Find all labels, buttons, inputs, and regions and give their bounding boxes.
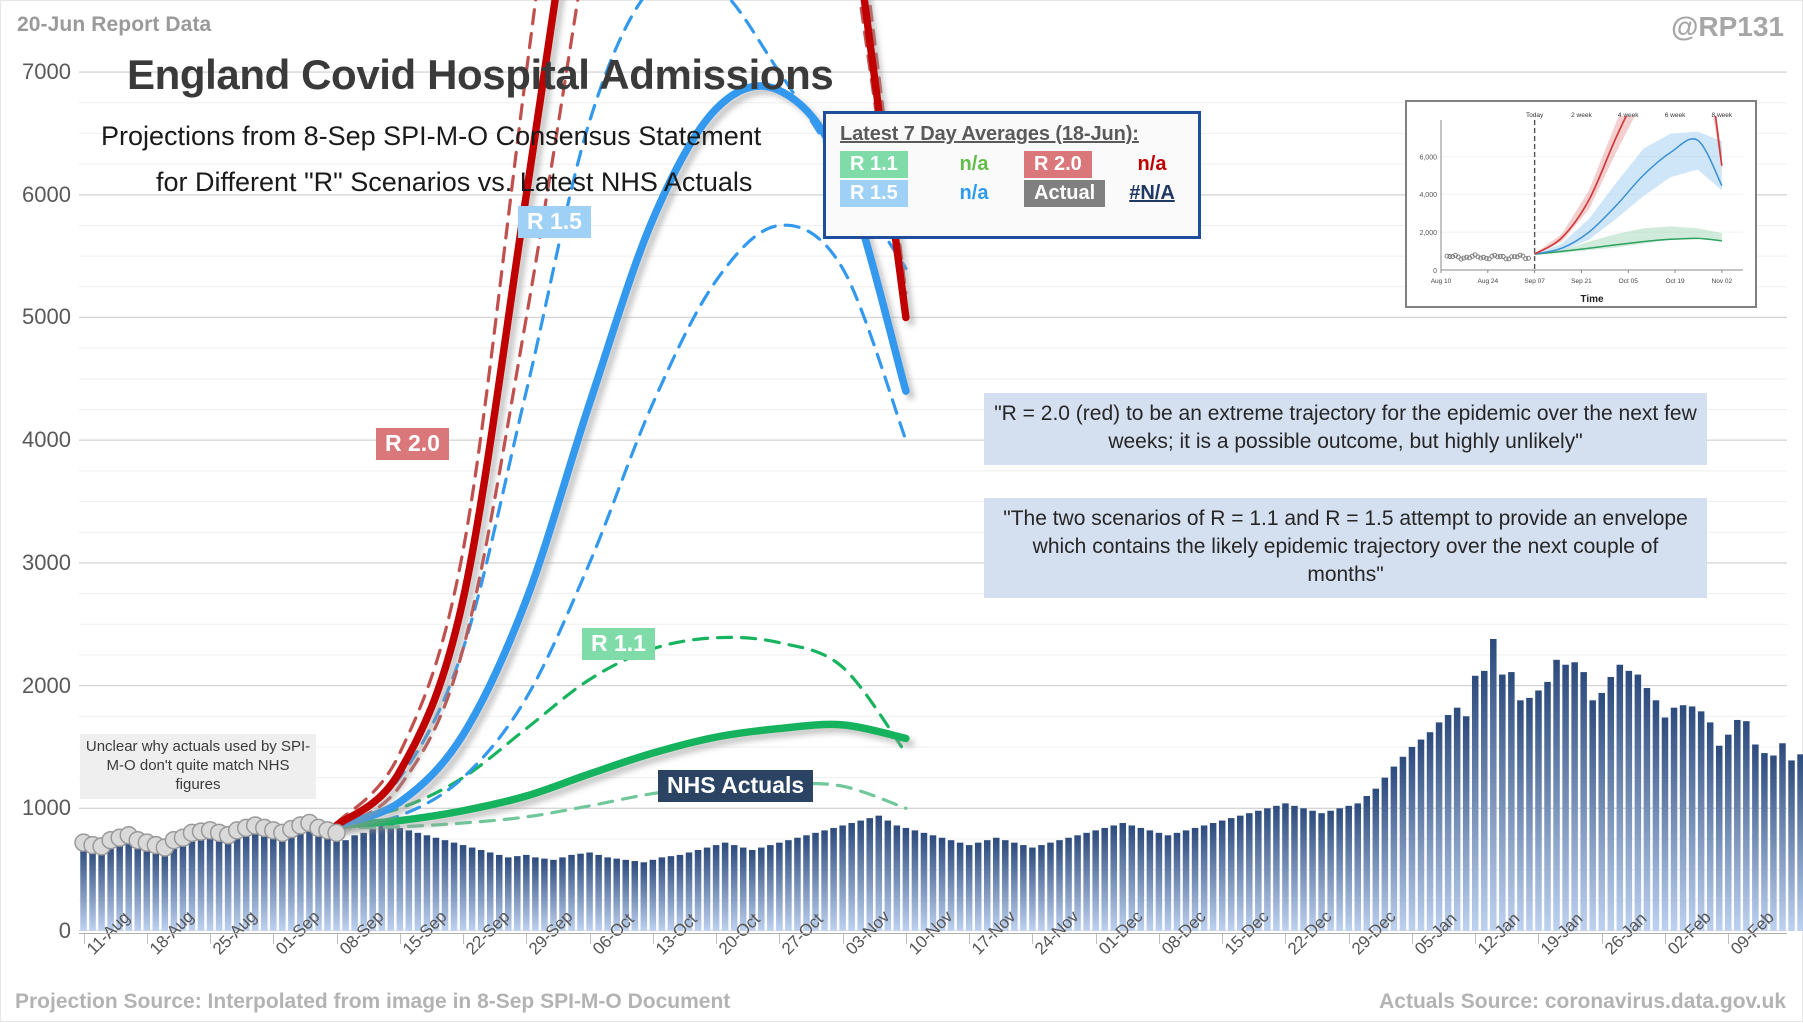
bar xyxy=(1743,721,1750,931)
bar xyxy=(577,854,584,931)
bar xyxy=(1517,700,1524,931)
bar xyxy=(288,834,295,931)
line-r-1-1 xyxy=(337,724,906,825)
bar xyxy=(839,825,846,931)
legend-chip-r11: R 1.1 xyxy=(840,151,908,178)
bar xyxy=(1589,700,1596,931)
bar xyxy=(1463,716,1470,931)
inset-x-tick-label: Nov 02 xyxy=(1712,278,1733,285)
bar xyxy=(1752,744,1759,931)
bar xyxy=(1779,743,1786,931)
bar xyxy=(541,859,548,931)
bar xyxy=(1698,711,1705,931)
bar xyxy=(415,833,422,931)
bar xyxy=(216,838,223,931)
bar xyxy=(1219,821,1226,931)
inset-top-label: Today xyxy=(1526,112,1544,119)
bar xyxy=(1029,848,1036,931)
y-axis-tick-label: 2000 xyxy=(22,673,71,699)
bar xyxy=(324,835,331,931)
y-axis-tick-label: 7000 xyxy=(22,59,71,85)
bar xyxy=(1734,720,1741,931)
bar xyxy=(342,840,349,931)
bar xyxy=(894,825,901,931)
bar xyxy=(80,846,87,931)
bar xyxy=(388,823,395,931)
bar xyxy=(1147,830,1154,931)
bar xyxy=(848,823,855,931)
bar xyxy=(1237,816,1244,931)
bar xyxy=(1174,833,1181,931)
bar xyxy=(406,830,413,931)
bar xyxy=(1481,671,1488,931)
bar xyxy=(523,855,530,931)
bar xyxy=(1472,676,1479,931)
bar xyxy=(478,850,485,931)
legend-row: R 1.5 n/a Actual #N/A xyxy=(840,182,1184,205)
bar xyxy=(1300,808,1307,931)
bar xyxy=(1571,662,1578,931)
footer-projection-source: Projection Source: Interpolated from ima… xyxy=(15,990,730,1014)
bar xyxy=(1535,691,1542,931)
bar xyxy=(704,848,711,931)
legend-value-r20: n/a xyxy=(1120,153,1184,176)
bar xyxy=(1291,806,1298,931)
bar xyxy=(776,843,783,931)
y-axis-tick-label: 5000 xyxy=(22,304,71,330)
bar xyxy=(144,848,151,931)
y-axis-tick-label: 0 xyxy=(59,918,71,944)
bar xyxy=(460,845,467,931)
bar xyxy=(397,828,404,931)
bar xyxy=(469,848,476,931)
bar xyxy=(89,850,96,931)
inset-chart-svg: 02,0004,0006,000Aug 10Aug 24Sep 07Sep 21… xyxy=(1407,102,1755,306)
bar xyxy=(1228,818,1235,931)
bar xyxy=(1110,825,1117,931)
bar xyxy=(1156,833,1163,931)
bar xyxy=(641,862,648,931)
bar xyxy=(1671,708,1678,931)
bar xyxy=(1644,688,1651,931)
bar xyxy=(586,852,593,931)
bar xyxy=(1354,803,1361,931)
inset-y-tick: 6,000 xyxy=(1419,154,1437,161)
bar xyxy=(1770,756,1777,931)
inset-top-label: 6 week xyxy=(1665,112,1686,119)
bar xyxy=(1562,665,1569,931)
bar xyxy=(1336,808,1343,931)
bar xyxy=(722,843,729,931)
bar xyxy=(857,821,864,931)
legend-value-actual: #N/A xyxy=(1120,182,1184,205)
series-label-r20: R 2.0 xyxy=(376,428,449,460)
y-axis-tick-label: 4000 xyxy=(22,427,71,453)
bar xyxy=(1273,806,1280,931)
inset-x-tick-label: Sep 07 xyxy=(1524,278,1545,285)
quote-box-envelope: "The two scenarios of R = 1.1 and R = 1.… xyxy=(984,498,1707,598)
bar xyxy=(153,850,160,931)
bar xyxy=(1409,747,1416,931)
bar xyxy=(1047,843,1054,931)
bar xyxy=(1364,796,1371,931)
bar xyxy=(207,835,214,931)
bar xyxy=(1626,671,1633,931)
bar xyxy=(1083,833,1090,931)
bar xyxy=(794,838,801,931)
y-axis: 01000200030004000500060007000 xyxy=(1,23,71,931)
x-axis-line xyxy=(79,933,1787,934)
bar xyxy=(279,838,286,931)
bar xyxy=(1580,672,1587,931)
bar xyxy=(351,835,358,931)
series-label-nhs-actuals: NHS Actuals xyxy=(658,770,813,802)
legend-value-r15: n/a xyxy=(924,182,1024,205)
series-label-r11: R 1.1 xyxy=(582,628,655,660)
inset-source-chart-image: 02,0004,0006,000Aug 10Aug 24Sep 07Sep 21… xyxy=(1405,100,1757,308)
inset-x-tick-label: Oct 05 xyxy=(1619,278,1639,285)
bar xyxy=(1282,803,1289,931)
bar xyxy=(162,852,169,931)
inset-top-label: 2 week xyxy=(1571,112,1592,119)
series-label-r15: R 1.5 xyxy=(518,206,591,238)
bar xyxy=(98,851,105,931)
bar xyxy=(1653,700,1660,931)
bar xyxy=(1553,660,1560,931)
bar xyxy=(785,840,792,931)
footer-actuals-source: Actuals Source: coronavirus.data.gov.uk xyxy=(1379,990,1786,1014)
bar xyxy=(975,843,982,931)
bar xyxy=(198,837,205,931)
bar xyxy=(713,845,720,931)
bar xyxy=(595,855,602,931)
quote-box-r20: "R = 2.0 (red) to be an extreme trajecto… xyxy=(984,393,1707,465)
inset-y-tick: 4,000 xyxy=(1419,192,1437,199)
y-axis-tick-label: 6000 xyxy=(22,182,71,208)
bar xyxy=(1680,705,1687,931)
bar xyxy=(1445,715,1452,931)
bar xyxy=(650,860,657,931)
bar xyxy=(1526,698,1533,931)
bar xyxy=(1662,717,1669,931)
bar xyxy=(1418,740,1425,931)
bar xyxy=(1761,753,1768,931)
bar xyxy=(604,857,611,931)
legend-chip-actual: Actual xyxy=(1024,180,1105,207)
bar xyxy=(1499,675,1506,931)
legend-title: Latest 7 Day Averages (18-Jun): xyxy=(840,123,1184,146)
bar xyxy=(1400,757,1407,931)
bar xyxy=(966,845,973,931)
inset-x-tick-label: Oct 19 xyxy=(1665,278,1685,285)
bar xyxy=(261,833,268,931)
bar xyxy=(514,856,521,931)
bar xyxy=(1092,830,1099,931)
y-axis-tick-label: 1000 xyxy=(22,795,71,821)
subtitle-line-2: for Different "R" Scenarios vs. Latest N… xyxy=(156,167,752,198)
bar xyxy=(1490,639,1497,931)
bar xyxy=(830,828,837,931)
bar xyxy=(451,843,458,931)
marker-dot xyxy=(328,824,345,841)
bar xyxy=(1788,760,1795,931)
inset-x-tick-label: Aug 10 xyxy=(1431,278,1452,285)
bar xyxy=(1038,845,1045,931)
legend-value-r11: n/a xyxy=(924,153,1024,176)
bar xyxy=(1020,845,1027,931)
chart-canvas: 20-Jun Report Data @RP131 01000200030004… xyxy=(0,0,1803,1022)
bar xyxy=(1689,706,1696,931)
inset-x-axis-label: Time xyxy=(1580,294,1604,305)
legend-row: R 1.1 n/a R 2.0 n/a xyxy=(840,153,1184,176)
bar xyxy=(1707,722,1714,931)
bar xyxy=(1508,672,1515,931)
bar xyxy=(903,828,910,931)
bar-series-nhs-actuals xyxy=(80,639,1803,931)
bar xyxy=(1617,665,1624,931)
bar xyxy=(1454,708,1461,931)
bar xyxy=(957,843,964,931)
bar xyxy=(225,840,232,931)
bar xyxy=(1101,828,1108,931)
bar xyxy=(1391,767,1398,931)
inset-x-tick-label: Aug 24 xyxy=(1478,278,1499,285)
annotation-note: Unclear why actuals used by SPI-M-O don'… xyxy=(80,734,316,799)
subtitle-line-1: Projections from 8-Sep SPI-M-O Consensus… xyxy=(101,121,761,152)
bar xyxy=(1210,823,1217,931)
page-title: England Covid Hospital Admissions xyxy=(127,51,833,99)
bar xyxy=(1725,735,1732,931)
bar xyxy=(1345,806,1352,931)
bar xyxy=(1598,693,1605,931)
bar xyxy=(1797,754,1803,931)
legend-chip-r20: R 2.0 xyxy=(1024,151,1092,178)
inset-y-tick: 2,000 xyxy=(1419,230,1437,237)
bar xyxy=(134,845,141,931)
bar xyxy=(767,845,774,931)
bar xyxy=(921,833,928,931)
bar xyxy=(270,835,277,931)
inset-x-tick-label: Sep 21 xyxy=(1571,278,1592,285)
bar xyxy=(1436,722,1443,931)
bar xyxy=(1544,682,1551,931)
bar xyxy=(821,830,828,931)
bar xyxy=(1373,789,1380,931)
bar xyxy=(532,857,539,931)
bar xyxy=(1165,835,1172,931)
inset-y-tick: 0 xyxy=(1433,268,1437,275)
bar xyxy=(1635,675,1642,931)
bar xyxy=(333,838,340,931)
y-axis-tick-label: 3000 xyxy=(22,550,71,576)
bar xyxy=(731,845,738,931)
bar xyxy=(659,857,666,931)
legend-chip-r15: R 1.5 xyxy=(840,180,908,207)
bar xyxy=(912,830,919,931)
bar xyxy=(1716,746,1723,931)
bar xyxy=(1427,732,1434,931)
bar xyxy=(668,856,675,931)
bar xyxy=(1608,677,1615,931)
bar xyxy=(984,840,991,931)
legend-box: Latest 7 Day Averages (18-Jun): R 1.1 n/… xyxy=(823,111,1201,239)
